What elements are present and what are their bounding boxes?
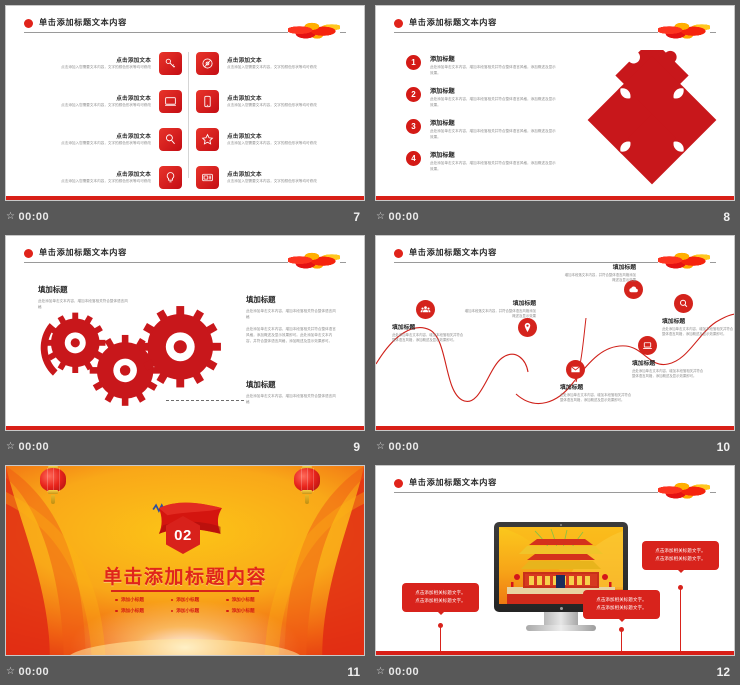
block-body: 此处添加单击文本内容，增加本段落相关符合整体语言风格 [246, 393, 338, 406]
node-heading: 填加标题 [662, 316, 735, 325]
text-block[interactable]: 填加标题 此处添加单击文本内容，增加本段落相关符合整体语言风格 [38, 284, 130, 311]
callout-box[interactable]: 点击添加相关标题文字。 点击添加相关标题文字。 [402, 583, 479, 612]
item-heading: 添加标题 [430, 118, 556, 127]
callout-box[interactable]: 点击添加相关标题文字。 点击添加相关标题文字。 [583, 590, 660, 619]
slide-12[interactable]: 单击添加标题文本内容 [375, 465, 735, 656]
bullet-item[interactable]: 添加小标题 [157, 597, 212, 603]
node-body: 此处添加单击文本内容，增加本段落相关并符合整体语言风格，添加概述及显示效果即可。 [662, 327, 735, 338]
no-entry-icon[interactable] [196, 52, 219, 75]
page-number: 7 [353, 210, 360, 224]
node-icon-wrap[interactable] [674, 294, 693, 313]
page-title: 单击添加标题文本内容 [409, 16, 497, 28]
text-block[interactable]: 填加标题 此处添加单击文本内容，增加本段落相关符合整体语言风格 此处添加单击文本… [246, 294, 338, 344]
item-heading: 点击添加文本 [45, 56, 151, 64]
item-heading: 添加标题 [430, 86, 556, 95]
star-icon: ☆ [376, 667, 385, 677]
bullet-dot-icon [115, 610, 118, 613]
slide-cell-9[interactable]: 单击添加标题文本内容 [0, 230, 370, 460]
list-item[interactable]: 点击添加文本 点击添加入您需要文本内容，文字的颜色形状等均可修改 [22, 48, 182, 78]
block-heading: 填加标题 [38, 284, 130, 295]
node-body: 增加本段落文本内容，并符合整体语言风格添加概述及显示效果 [562, 273, 636, 284]
timer-value: 00:00 [388, 666, 419, 678]
timer-area: ☆ 00:00 [6, 666, 49, 678]
item-number: 1 [406, 55, 421, 70]
bullet-item[interactable]: 添加小标题 [213, 597, 268, 603]
slide-header: 单击添加标题文本内容 [394, 246, 716, 272]
slide-header: 单击添加标题文本内容 [394, 476, 716, 502]
node-heading: 填加标题 [392, 322, 466, 331]
slide-footer: ☆ 00:00 8 [370, 206, 740, 230]
list-item[interactable]: 点击添加文本 点击添加入您需要文本内容，文字的颜色形状等均可修改 [22, 162, 182, 192]
slide-cell-8[interactable]: 单击添加标题文本内容 1 添加标题 此处添加单击文本内容，增加本段落相关并符合整… [370, 0, 740, 230]
bullet-dot-icon [394, 479, 403, 488]
list-item[interactable]: 4 添加标题 此处添加单击文本内容，增加本段落相关并符合整体语言风格，添加概述及… [406, 150, 556, 178]
bullet-grid: 添加小标题 添加小标题 添加小标题 添加小标题 添加小标题 添加小标题 [102, 597, 268, 619]
node-text[interactable]: 填加标题 此处添加单击文本内容，增加本段落相关并符合整体语言风格，添加概述及显示… [632, 358, 706, 379]
block-body: 此处添加单击文本内容，增加本段落相关符合整体语言风格 [246, 308, 338, 321]
callout-line-2: 点击添加相关标题文字。 [409, 597, 472, 605]
item-body: 点击添加入您需要文本内容，文字的颜色形状等均可修改 [227, 65, 333, 70]
item-body: 点击添加入您需要文本内容，文字的颜色形状等均可修改 [45, 65, 151, 70]
item-body: 点击添加入您需要文本内容，文字的颜色形状等均可修改 [227, 141, 333, 146]
node-heading: 填加标题 [562, 262, 636, 271]
mobile-phone-icon[interactable] [196, 90, 219, 113]
page-number: 9 [353, 440, 360, 454]
node-body: 此处添加单击文本内容，增加本段落相关并符合整体语言风格，添加概述及显示效果即可。 [560, 393, 634, 404]
list-item[interactable]: 点击添加文本 点击添加入您需要文本内容，文字的颜色形状等均可修改 [196, 48, 362, 78]
node-text[interactable]: 填加标题 此处添加单击文本内容，增加本段落相关并符合整体语言风格，添加概述及显示… [392, 322, 466, 343]
connector-line [680, 588, 681, 655]
node-icon-wrap[interactable] [638, 336, 657, 355]
bullet-label: 添加小标题 [176, 608, 199, 614]
vertical-divider [188, 52, 189, 178]
star-icon: ☆ [6, 667, 15, 677]
bullet-label: 添加小标题 [121, 597, 144, 603]
list-item[interactable]: 2 添加标题 此处添加单击文本内容，增加本段落相关并符合整体语言风格，添加概述及… [406, 86, 556, 114]
slide-header: 单击添加标题文本内容 [394, 16, 716, 42]
star-icon: ☆ [376, 212, 385, 222]
numbered-list: 1 添加标题 此处添加单击文本内容，增加本段落相关并符合整体语言风格，添加概述及… [406, 54, 556, 182]
item-heading: 点击添加文本 [45, 132, 151, 140]
list-item[interactable]: 点击添加文本 点击添加入您需要文本内容，文字的颜色形状等均可修改 [196, 124, 362, 154]
callout-line-1: 点击添加相关标题文字。 [590, 596, 653, 604]
connector-dashed-line [166, 400, 244, 401]
timer-area: ☆ 00:00 [6, 211, 49, 223]
callout-box[interactable]: 点击添加相关标题文字。 点击添加相关标题文字。 [642, 541, 719, 570]
page-title: 单击添加标题文本内容 [409, 476, 497, 488]
item-body: 此处添加单击文本内容，增加本段落相关并符合整体语言风格，添加概述及显示效果。 [430, 97, 556, 108]
node-heading: 填加标题 [560, 382, 634, 391]
timer-value: 00:00 [18, 666, 49, 678]
bullet-dot-icon [24, 249, 33, 258]
list-item[interactable]: 点击添加文本 点击添加入您需要文本内容，文字的颜色形状等均可修改 [22, 124, 182, 154]
slide-footer: ☆ 00:00 12 [370, 661, 740, 685]
star-outline-icon[interactable] [196, 128, 219, 151]
block-heading: 填加标题 [246, 379, 338, 390]
slide-footer: ☆ 00:00 9 [0, 436, 370, 460]
festive-decoration-icon [658, 248, 710, 270]
node-text[interactable]: 填加标题 增加本段落文本内容，并符合整体语言风格添加概述及显示效果 [562, 262, 636, 283]
people-group-icon[interactable] [416, 300, 435, 319]
monitor-base [526, 625, 596, 631]
slide-thumbnail-grid: 单击添加标题文本内容 点击添加文本 点击添加入您需要文本内容，文字的颜色形状等均… [0, 0, 740, 685]
node-text[interactable]: 填加标题 此处添加单击文本内容，增加本段落相关并符合整体语言风格，添加概述及显示… [662, 316, 735, 337]
slide-cell-7[interactable]: 单击添加标题文本内容 点击添加文本 点击添加入您需要文本内容，文字的颜色形状等均… [0, 0, 370, 230]
bullet-dot-icon [394, 19, 403, 28]
block-body-2: 此处添加单击文本内容，增加本段落相关并符合整体语言风格，添加概述及显示效果即可。… [246, 326, 338, 345]
node-heading: 填加标题 [462, 298, 536, 307]
star-icon: ☆ [6, 212, 15, 222]
bullet-label: 添加小标题 [232, 597, 255, 603]
red-lantern-icon [40, 465, 66, 504]
page-title: 单击添加标题文本内容 [39, 246, 127, 258]
item-heading: 点击添加文本 [227, 94, 333, 102]
item-heading: 点击添加文本 [227, 170, 333, 178]
tv-card-icon[interactable] [196, 166, 219, 189]
bullet-item[interactable]: 添加小标题 [102, 608, 157, 614]
item-body: 此处添加单击文本内容，增加本段落相关并符合整体语言风格，添加概述及显示效果。 [430, 129, 556, 140]
bullet-dot-icon [226, 610, 229, 613]
slide-header: 单击添加标题文本内容 [24, 16, 346, 42]
item-body: 点击添加入您需要文本内容，文字的颜色形状等均可修改 [45, 179, 151, 184]
bullet-label: 添加小标题 [176, 597, 199, 603]
page-title: 单击添加标题文本内容 [409, 246, 497, 258]
title-underline [111, 590, 259, 592]
slide-cell-11[interactable]: 02 单击添加标题内容 添加小标题 添加小标题 添加小标题 添加小标题 添加小标… [0, 460, 370, 685]
slide-footer: ☆ 00:00 10 [370, 436, 740, 460]
item-body: 点击添加入您需要文本内容，文字的颜色形状等均可修改 [45, 141, 151, 146]
node-text[interactable]: 填加标题 此处添加单击文本内容，增加本段落相关并符合整体语言风格，添加概述及显示… [560, 382, 634, 403]
slide-accent-bar [376, 426, 734, 430]
item-heading: 添加标题 [430, 150, 556, 159]
slide-8[interactable]: 单击添加标题文本内容 1 添加标题 此处添加单击文本内容，增加本段落相关并符合整… [375, 5, 735, 201]
item-number: 4 [406, 151, 421, 166]
bullet-item[interactable]: 添加小标题 [102, 597, 157, 603]
page-title: 单击添加标题文本内容 [39, 16, 127, 28]
slide-cell-12[interactable]: 单击添加标题文本内容 [370, 460, 740, 685]
slide-accent-bar [6, 196, 364, 200]
festive-decoration-icon [658, 18, 710, 40]
callout-line-1: 点击添加相关标题文字。 [649, 547, 712, 555]
item-heading: 点击添加文本 [227, 132, 333, 140]
envelope-icon[interactable] [566, 360, 585, 379]
node-body: 增加本段落文本内容，并符合整体语言风格添加概述及显示效果 [462, 309, 536, 320]
bullet-dot-icon [394, 249, 403, 258]
bullet-dot-icon [226, 599, 229, 602]
timer-value: 00:00 [388, 441, 419, 453]
lightbulb-icon[interactable] [159, 166, 182, 189]
list-item[interactable]: 点击添加文本 点击添加入您需要文本内容，文字的颜色形状等均可修改 [196, 86, 362, 116]
node-heading: 填加标题 [632, 358, 706, 367]
page-number: 11 [347, 665, 360, 679]
monitor-neck [544, 612, 578, 626]
page-number: 12 [717, 665, 730, 679]
node-body: 此处添加单击文本内容，增加本段落相关并符合整体语言风格，添加概述及显示效果即可。 [392, 333, 466, 344]
slide-footer: ☆ 00:00 11 [0, 661, 370, 685]
item-body: 点击添加入您需要文本内容，文字的颜色形状等均可修改 [227, 103, 333, 108]
node-text[interactable]: 填加标题 增加本段落文本内容，并符合整体语言风格添加概述及显示效果 [462, 298, 536, 319]
list-item[interactable]: 点击添加文本 点击添加入您需要文本内容，文字的颜色形状等均可修改 [196, 162, 362, 192]
icon-feature-list: 点击添加文本 点击添加入您需要文本内容，文字的颜色形状等均可修改 点击添加文本 … [6, 44, 364, 190]
section-title: 单击添加标题内容 [6, 562, 364, 589]
item-body: 此处添加单击文本内容，增加本段落相关并符合整体语言风格，添加概述及显示效果。 [430, 65, 556, 76]
festive-decoration-icon [288, 18, 340, 40]
slide-7[interactable]: 单击添加标题文本内容 点击添加文本 点击添加入您需要文本内容，文字的颜色形状等均… [5, 5, 365, 201]
star-icon: ☆ [6, 442, 15, 452]
laptop-icon[interactable] [638, 336, 657, 355]
timer-area: ☆ 00:00 [376, 666, 419, 678]
bullet-dot-icon [24, 19, 33, 28]
slide-accent-bar [376, 651, 734, 655]
item-heading: 点击添加文本 [227, 56, 333, 64]
festive-decoration-icon [288, 248, 340, 270]
timer-area: ☆ 00:00 [376, 441, 419, 453]
node-icon-wrap[interactable] [566, 360, 585, 379]
festive-decoration-icon [658, 478, 710, 500]
slide-accent-bar [376, 196, 734, 200]
search-icon[interactable] [674, 294, 693, 313]
block-heading: 填加标题 [246, 294, 338, 305]
page-number: 8 [723, 210, 730, 224]
node-body: 此处添加单击文本内容，增加本段落相关并符合整体语言风格，添加概述及显示效果即可。 [632, 369, 706, 380]
timer-area: ☆ 00:00 [6, 441, 49, 453]
slide-accent-bar [6, 426, 364, 430]
slide-header: 单击添加标题文本内容 [24, 246, 346, 272]
key-icon[interactable] [159, 52, 182, 75]
list-item[interactable]: 3 添加标题 此处添加单击文本内容，增加本段落相关并符合整体语言风格，添加概述及… [406, 118, 556, 146]
callout-line-1: 点击添加相关标题文字。 [409, 589, 472, 597]
bullet-label: 添加小标题 [232, 608, 255, 614]
bullet-dot-icon [171, 599, 174, 602]
red-lantern-icon [294, 465, 320, 504]
slide-9[interactable]: 单击添加标题文本内容 [5, 235, 365, 431]
bullet-item[interactable]: 添加小标题 [213, 608, 268, 614]
bullet-dot-icon [115, 599, 118, 602]
node-icon-wrap[interactable] [416, 300, 435, 319]
magnifier-icon[interactable] [159, 128, 182, 151]
node-icon-wrap[interactable] [518, 318, 537, 337]
item-body: 点击添加入您需要文本内容，文字的颜色形状等均可修改 [227, 179, 333, 184]
block-body: 此处添加单击文本内容，增加本段落相关符合整体语言风格 [38, 298, 130, 311]
bullet-dot-icon [171, 610, 174, 613]
item-number: 2 [406, 87, 421, 102]
item-heading: 添加标题 [430, 54, 556, 63]
slide-footer: ☆ 00:00 7 [0, 206, 370, 230]
callout-line-2: 点击添加相关标题文字。 [649, 555, 712, 563]
item-heading: 点击添加文本 [45, 94, 151, 102]
list-item[interactable]: 点击添加文本 点击添加入您需要文本内容，文字的颜色形状等均可修改 [22, 86, 182, 116]
power-led-icon [560, 607, 563, 610]
timer-value: 00:00 [18, 211, 49, 223]
item-heading: 点击添加文本 [45, 170, 151, 178]
location-pin-icon[interactable] [518, 318, 537, 337]
slide-cell-10[interactable]: 单击添加标题文本内容 填加标题 此处添加单击文本内容，增加本段落相关 [370, 230, 740, 460]
monitor-icon[interactable] [159, 90, 182, 113]
callout-line-2: 点击添加相关标题文字。 [590, 604, 653, 612]
item-body: 点击添加入您需要文本内容，文字的颜色形状等均可修改 [45, 103, 151, 108]
webcam-icon [560, 524, 562, 526]
page-number: 10 [717, 440, 730, 454]
slide-10[interactable]: 单击添加标题文本内容 填加标题 此处添加单击文本内容，增加本段落相关 [375, 235, 735, 431]
timer-value: 00:00 [388, 211, 419, 223]
bullet-label: 添加小标题 [121, 608, 144, 614]
item-number: 3 [406, 119, 421, 134]
text-block[interactable]: 填加标题 此处添加单击文本内容，增加本段落相关符合整体语言风格 [246, 379, 338, 406]
list-item[interactable]: 1 添加标题 此处添加单击文本内容，增加本段落相关并符合整体语言风格，添加概述及… [406, 54, 556, 82]
item-body: 此处添加单击文本内容，增加本段落相关并符合整体语言风格，添加概述及显示效果。 [430, 161, 556, 172]
timer-value: 00:00 [18, 441, 49, 453]
timer-area: ☆ 00:00 [376, 211, 419, 223]
bullet-item[interactable]: 添加小标题 [157, 608, 212, 614]
puzzle-pieces-diamond-icon [578, 50, 726, 190]
star-icon: ☆ [376, 442, 385, 452]
slide-11[interactable]: 02 单击添加标题内容 添加小标题 添加小标题 添加小标题 添加小标题 添加小标… [5, 465, 365, 656]
